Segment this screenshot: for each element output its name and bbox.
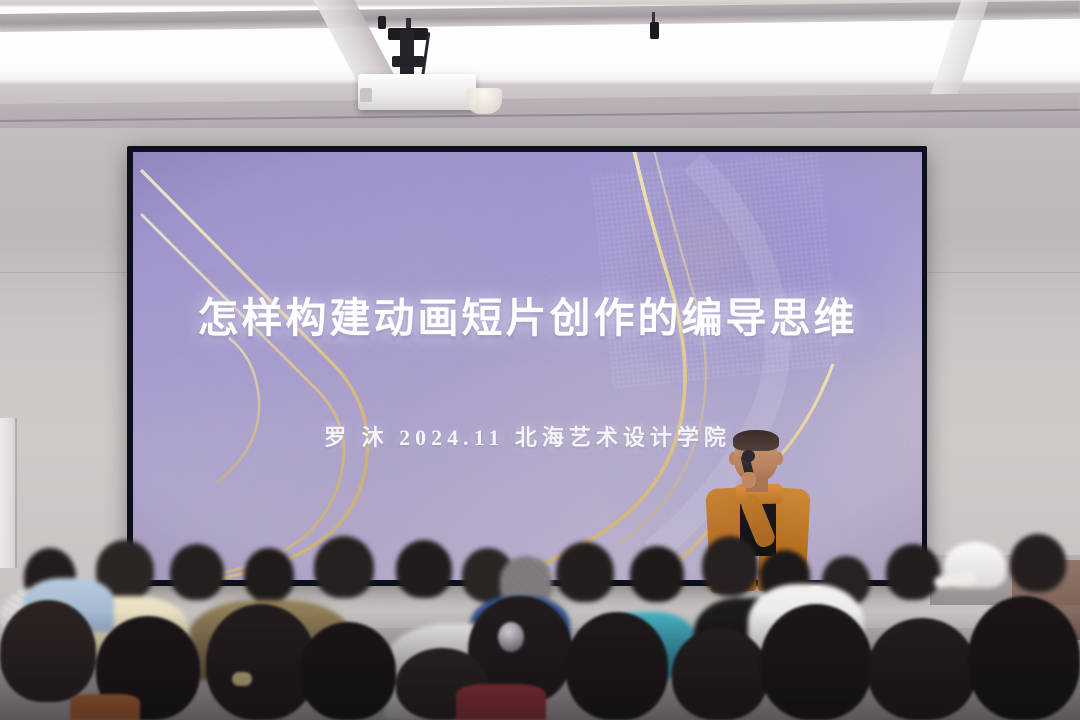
lecture-hall-photo: 怎样构建动画短片创作的编导思维 罗 沐 2024.11 北海艺术设计学院 <box>0 0 1080 720</box>
foreground-shadow <box>0 612 1080 720</box>
ceiling-projector <box>358 74 476 110</box>
slide-title: 怎样构建动画短片创作的编导思维 <box>133 284 922 344</box>
wall-panel-left-edge <box>15 418 17 568</box>
hair-tie <box>232 672 252 686</box>
audience-head <box>566 612 668 720</box>
audience-head <box>96 616 200 720</box>
presenter-hair <box>733 430 779 451</box>
audience-head <box>300 622 396 720</box>
podium <box>1012 560 1080 640</box>
audience-head <box>396 648 488 720</box>
microphone-head-icon <box>742 450 755 462</box>
white-hoodie-attendee <box>384 624 534 720</box>
audience-head <box>868 618 976 720</box>
red-top-attendee <box>456 684 546 720</box>
ceiling-light <box>466 88 502 114</box>
ceiling-sensor-left-icon <box>378 16 386 29</box>
projector-lens <box>360 88 372 102</box>
orange-top-attendee <box>70 694 140 720</box>
ceiling-camera-icon <box>650 22 659 39</box>
presenter-hand <box>742 472 756 488</box>
wall-panel-left <box>0 418 16 568</box>
presenter <box>700 432 820 602</box>
projector-mount <box>400 30 414 78</box>
presenter-jacket-badge <box>722 550 728 556</box>
projector-mount-bracket <box>392 56 424 67</box>
audience-head <box>672 628 768 720</box>
